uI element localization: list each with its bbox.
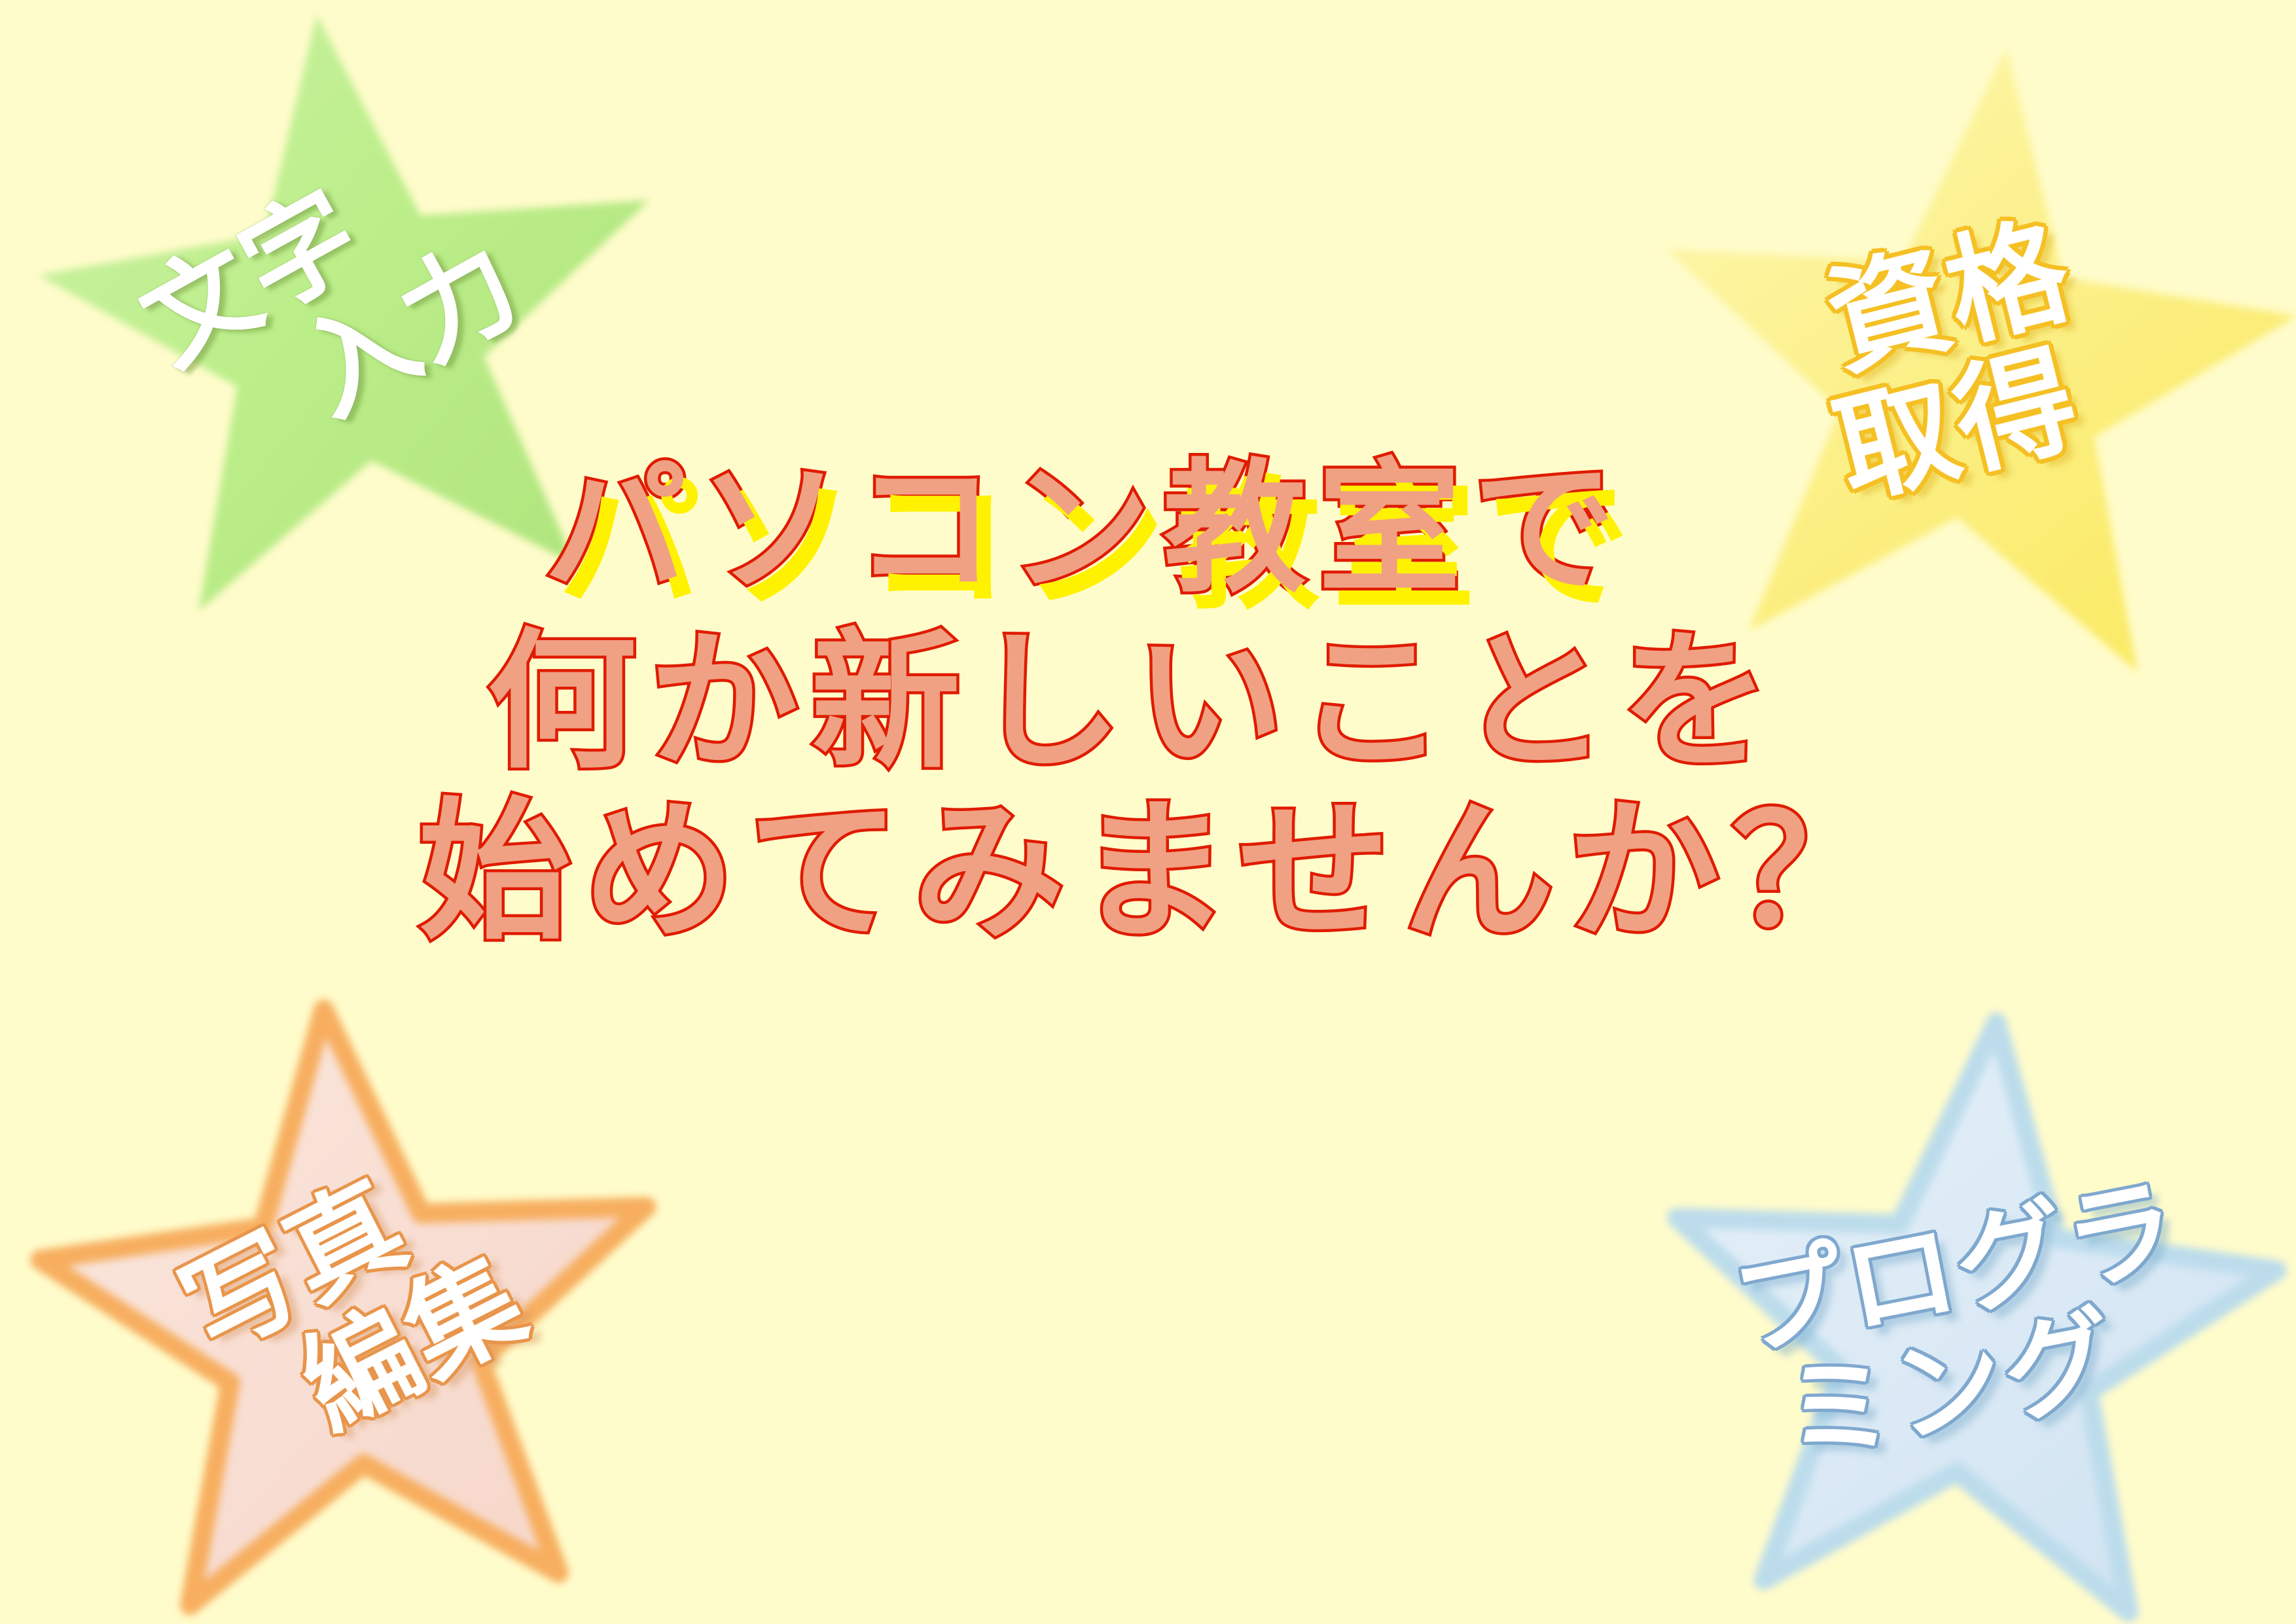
badge-star-text-input: 文字 入力 <box>0 0 717 672</box>
headline-line-3: 始めてみませんか？ <box>20 796 2296 948</box>
badge-star-photo-editing: 写真 編集 <box>0 954 708 1624</box>
badge-star-certification: 資格 取得 <box>1603 0 2296 734</box>
badge-star-programming: プログラ ミング <box>1615 967 2296 1624</box>
poster-canvas: 文字 入力 資格 取得 <box>0 0 2296 1624</box>
